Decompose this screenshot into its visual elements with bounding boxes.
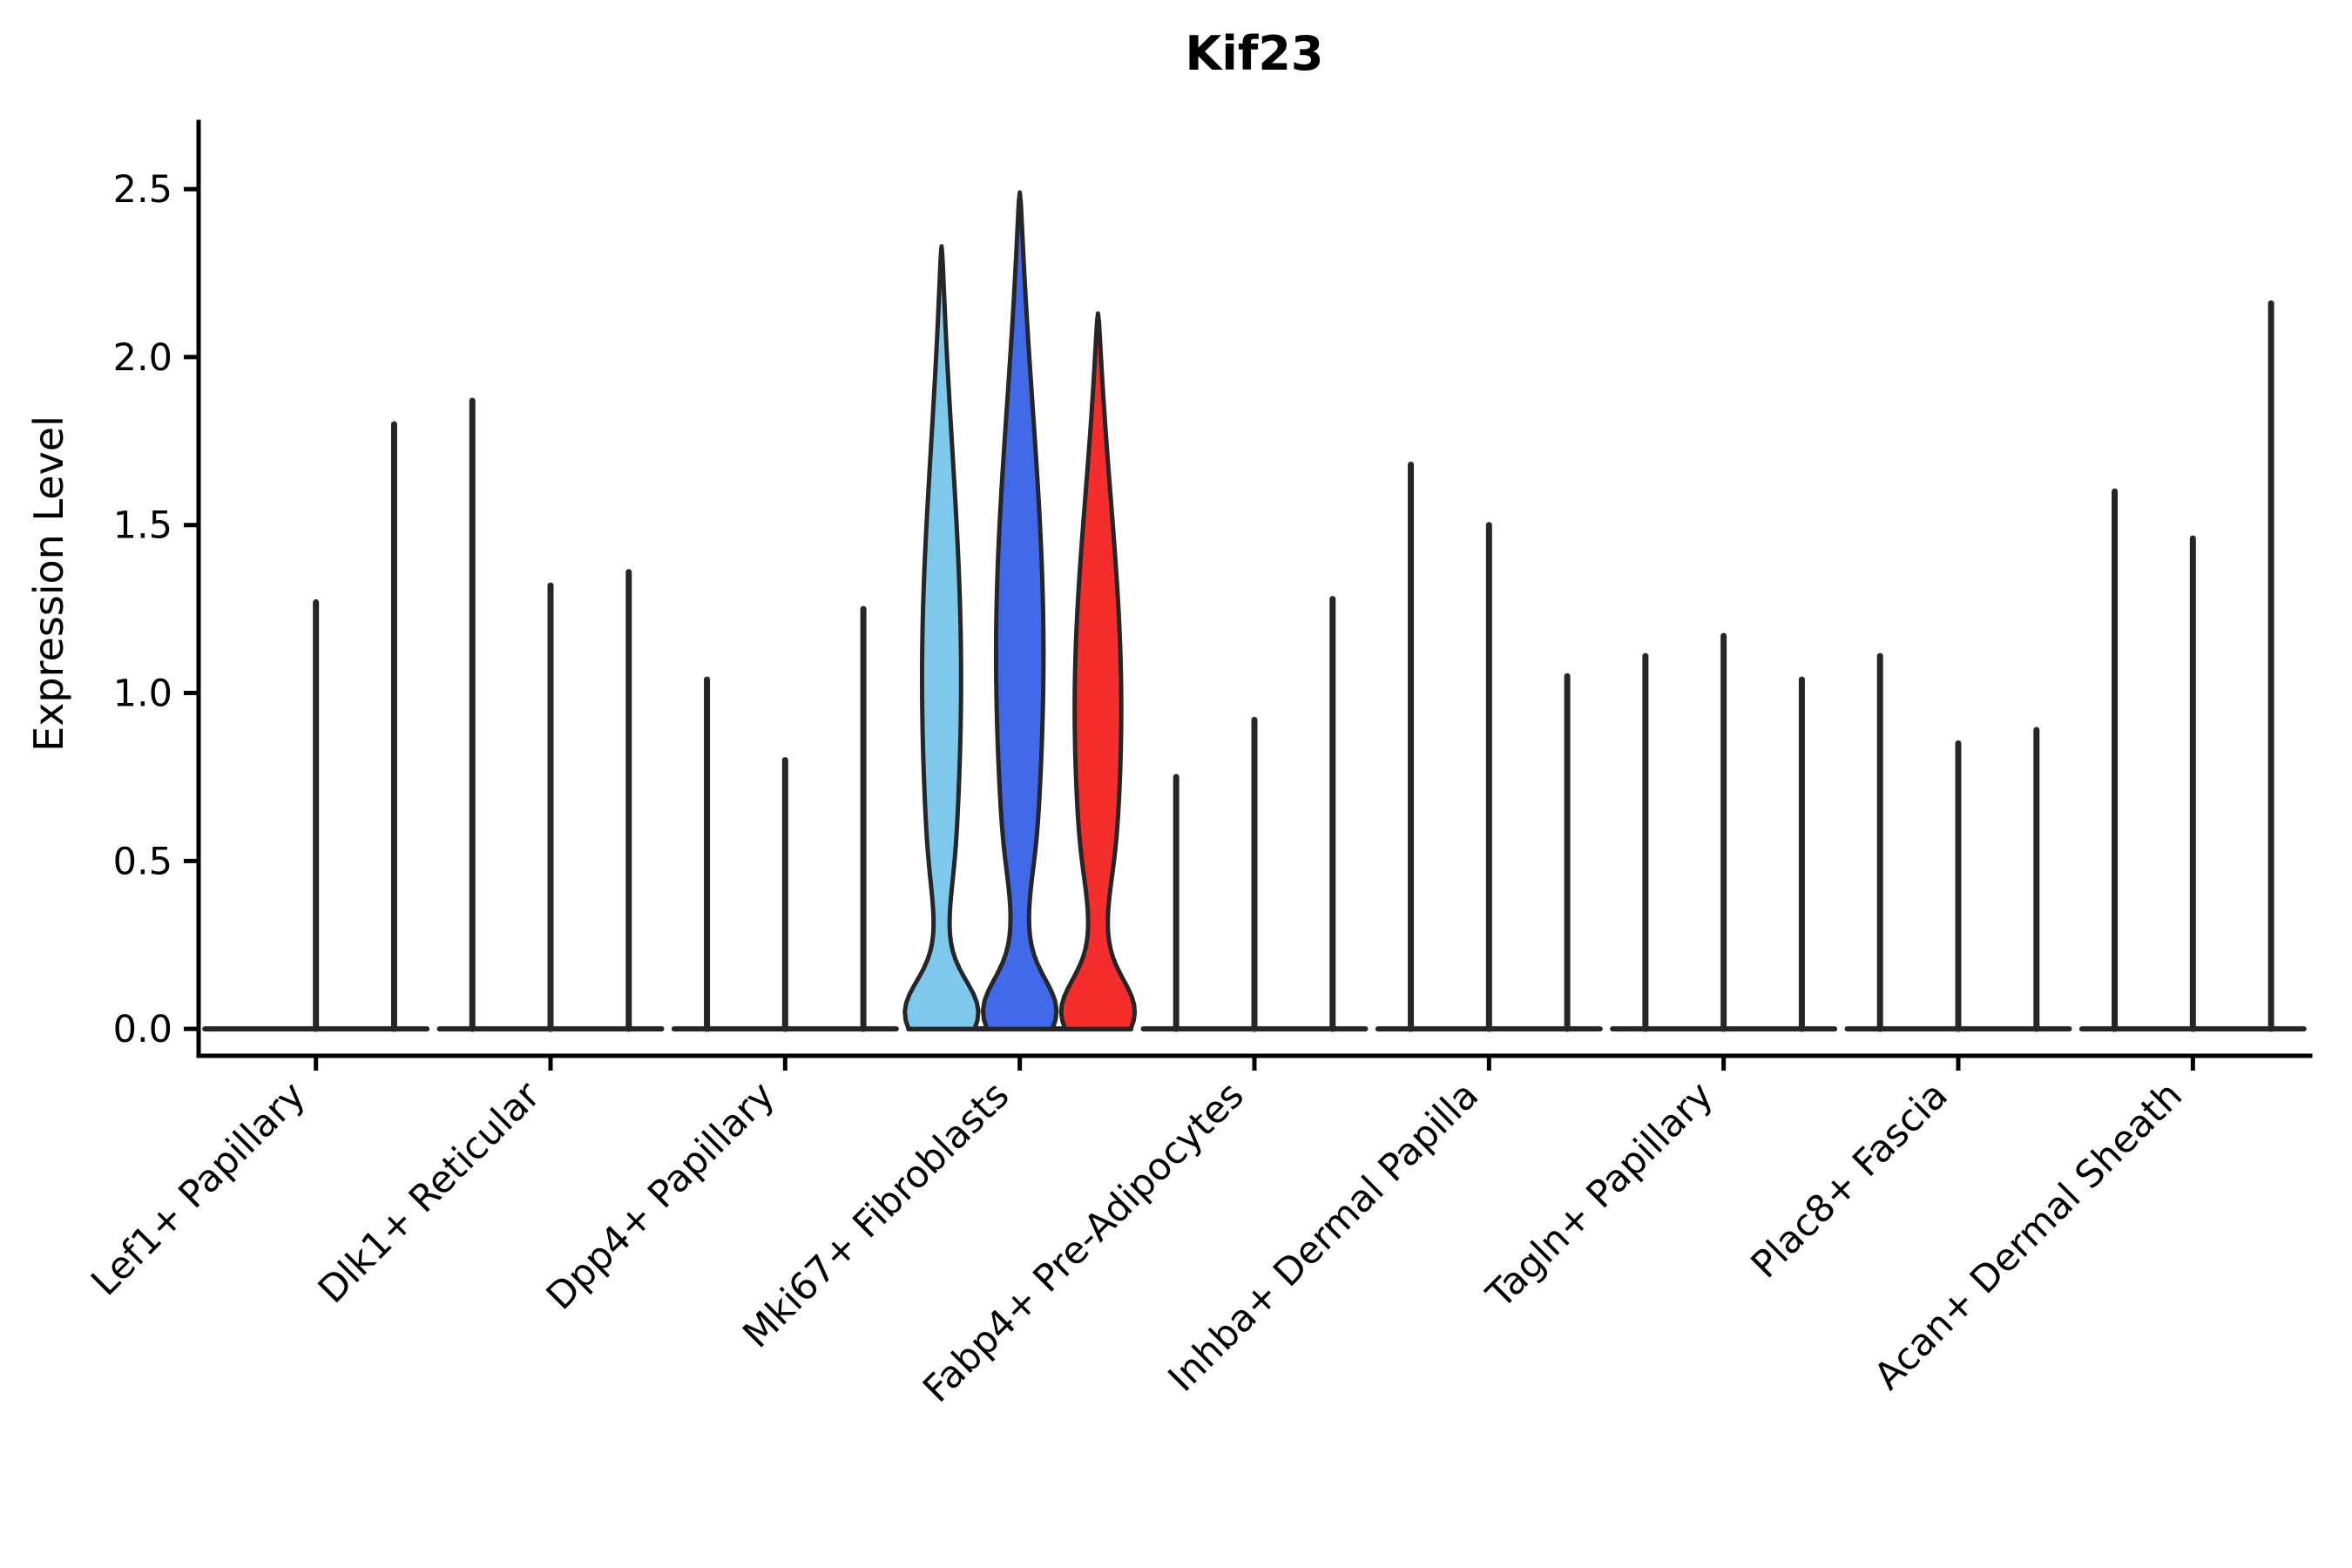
y-tick-label: 2.5: [113, 168, 172, 212]
y-tick-label: 2.0: [113, 336, 172, 380]
y-tick-label: 0.0: [113, 1008, 172, 1051]
y-tick-label: 1.0: [113, 672, 172, 716]
violin-plot-figure: Kif23 Expression Level 0.00.51.01.52.02.…: [0, 0, 2352, 1568]
y-axis-label: Expression Level: [25, 416, 72, 752]
violin-group-3: [905, 193, 1135, 1029]
violin-group-6: [1612, 636, 1835, 1029]
y-tick-label: 0.5: [113, 840, 172, 883]
y-tick-label: 1.5: [113, 504, 172, 548]
page-title: Kif23: [1186, 26, 1324, 81]
